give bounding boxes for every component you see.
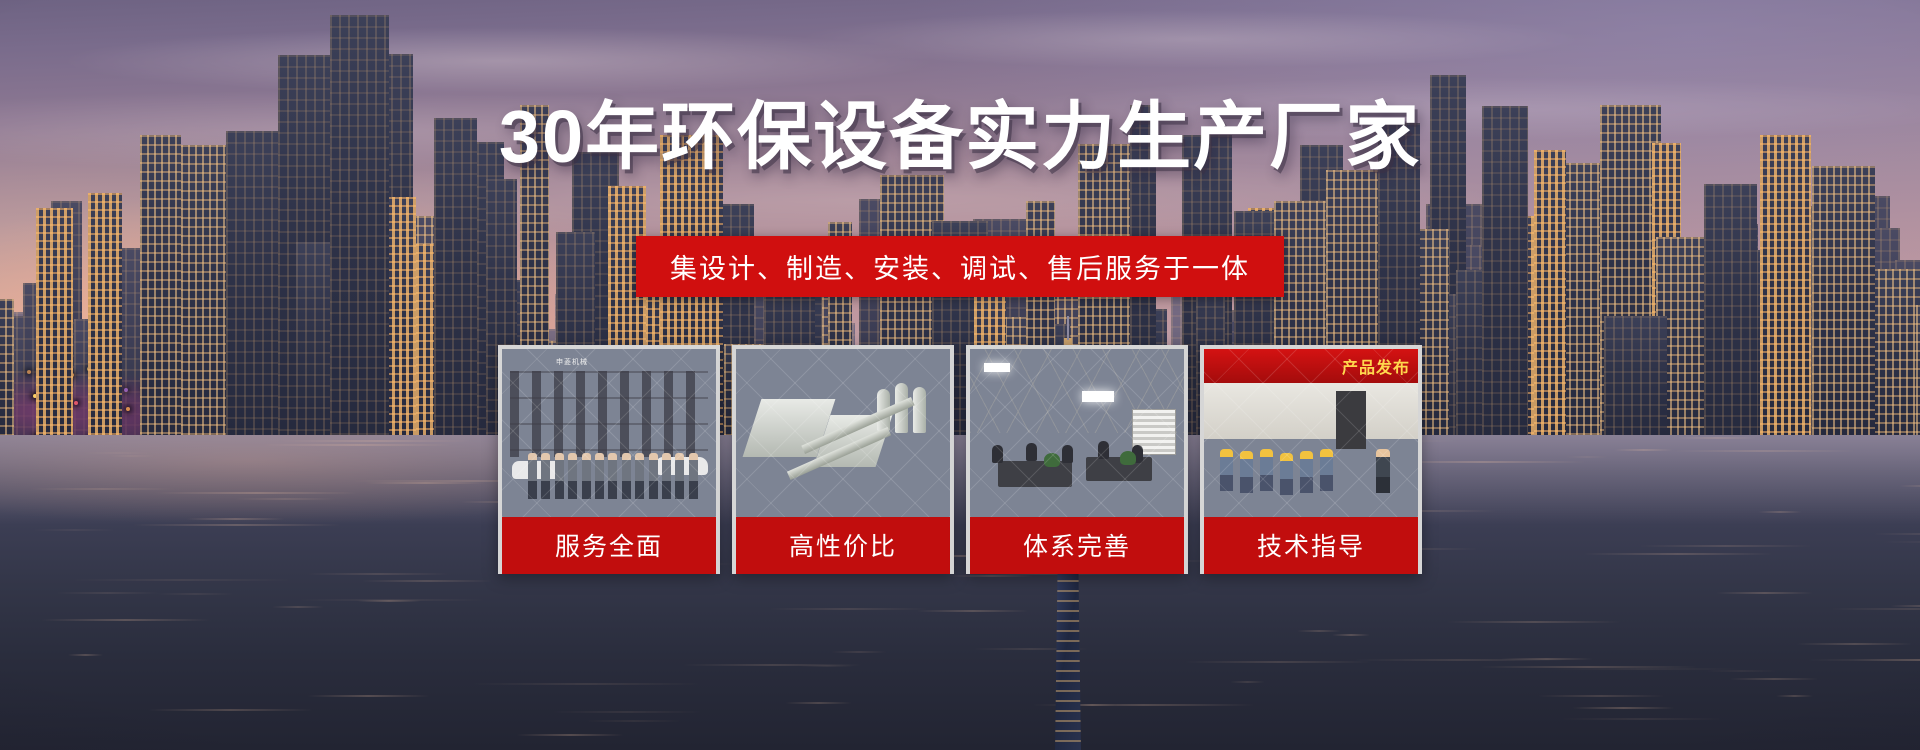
subtitle-banner: 集设计、制造、安装、调试、售后服务于一体 (636, 236, 1284, 297)
feature-card[interactable]: 产品发布 技术指导 (1200, 345, 1422, 574)
watermark-overlay (1204, 349, 1418, 517)
card-label: 高性价比 (736, 517, 950, 574)
card-photo: 产品发布 (1204, 349, 1418, 517)
card-photo (736, 349, 950, 517)
card-photo (970, 349, 1184, 517)
card-label: 服务全面 (502, 517, 716, 574)
watermark-overlay (736, 349, 950, 517)
page-title: 30年环保设备实力生产厂家 (0, 96, 1920, 177)
watermark-overlay (970, 349, 1184, 517)
feature-card[interactable]: 体系完善 (966, 345, 1188, 574)
feature-card[interactable]: 高性价比 (732, 345, 954, 574)
banner-content: 30年环保设备实力生产厂家 集设计、制造、安装、调试、售后服务于一体 申菱机械 … (0, 0, 1920, 750)
card-label: 体系完善 (970, 517, 1184, 574)
feature-card[interactable]: 申菱机械 服务全面 (498, 345, 720, 574)
watermark-overlay (502, 349, 716, 517)
feature-card-list: 申菱机械 服务全面 (498, 345, 1422, 574)
hero-banner: 30年环保设备实力生产厂家 集设计、制造、安装、调试、售后服务于一体 申菱机械 … (0, 0, 1920, 750)
card-photo: 申菱机械 (502, 349, 716, 517)
card-label: 技术指导 (1204, 517, 1418, 574)
